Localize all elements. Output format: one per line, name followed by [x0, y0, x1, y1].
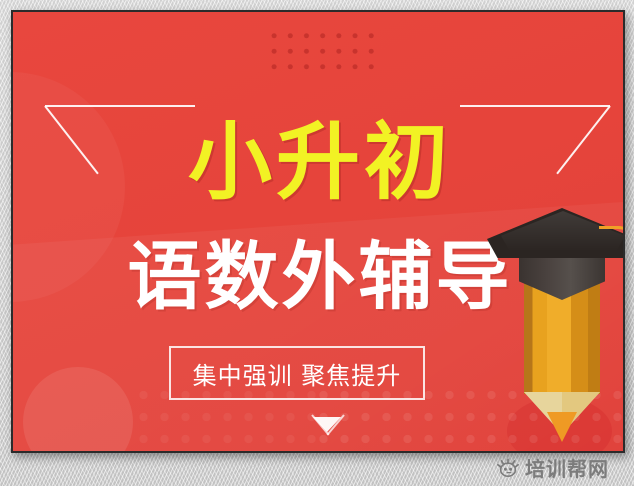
- dot-grid-top: [266, 28, 380, 72]
- sun-face-icon: [497, 458, 519, 480]
- watermark: 培训帮网: [497, 455, 609, 483]
- subtitle-text: 集中强训 聚焦提升: [193, 356, 402, 391]
- watermark-text: 培训帮网: [525, 459, 609, 479]
- poster-canvas: 小升初 语数外辅导 集中强训 聚焦提升: [13, 12, 623, 451]
- poster-image: 小升初 语数外辅导 集中强训 聚焦提升: [0, 0, 634, 486]
- headline-primary: 小升初: [13, 120, 623, 204]
- down-chevron-icon: [301, 413, 353, 449]
- bracket-left-horizontal-line: [45, 105, 195, 107]
- poster-frame: 小升初 语数外辅导 集中强训 聚焦提升: [11, 10, 625, 453]
- tassel-cord: [599, 226, 623, 289]
- subtitle-box: 集中强训 聚焦提升: [169, 346, 425, 400]
- bracket-right-horizontal-line: [460, 105, 610, 107]
- pencil-tip: [547, 412, 577, 442]
- graduation-cap-pencil-illustration: [491, 204, 623, 440]
